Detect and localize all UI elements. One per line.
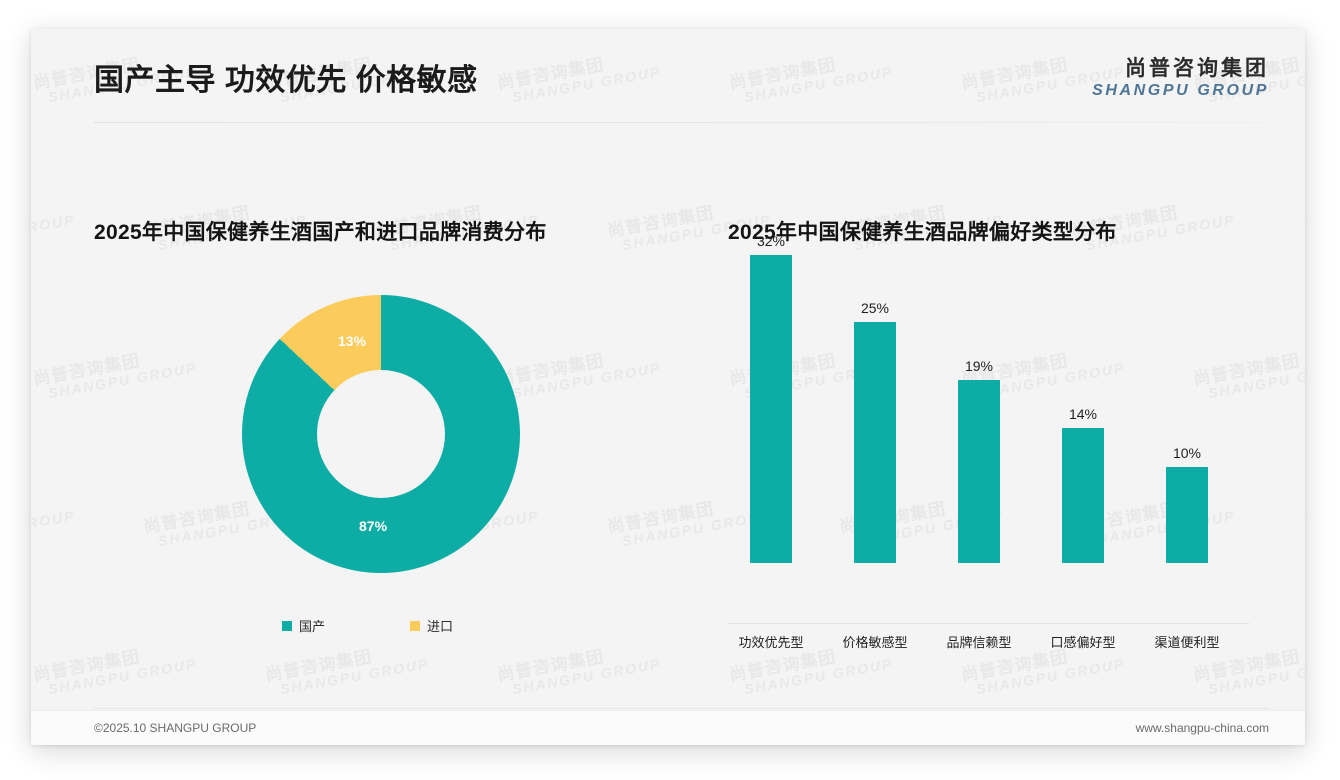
legend-label-domestic: 国产 xyxy=(299,616,325,635)
donut-slice-label-domestic: 87% xyxy=(359,518,387,534)
bar-column[interactable]: 14% xyxy=(1048,276,1118,563)
category-label: 口感偏好型 xyxy=(1031,632,1135,651)
legend-swatch-domestic xyxy=(282,621,292,631)
slide: 尚普咨询集团SHANGPU GROUP尚普咨询集团SHANGPU GROUP尚普… xyxy=(31,29,1305,745)
watermark-text: 尚普咨询集团SHANGPU GROUP xyxy=(31,337,199,404)
bar-chart: 32% 25% 19% 14% 10% 功效优先型 价格 xyxy=(728,276,1270,563)
donut-chart: 13% 87% xyxy=(242,295,520,573)
legend-item-import[interactable]: 进口 xyxy=(410,616,453,635)
watermark-text: 尚普咨询集团SHANGPU GROUP xyxy=(31,485,77,552)
company-logo: 尚普咨询集团 SHANGPU GROUP xyxy=(1092,58,1269,99)
bar-chart-axis-line xyxy=(728,623,1249,624)
bar-value-label: 14% xyxy=(1048,406,1118,422)
legend-label-import: 进口 xyxy=(427,616,453,635)
bar-rect xyxy=(854,322,896,563)
watermark-text: 尚普咨询集团SHANGPU GROUP xyxy=(1301,189,1305,256)
bar-chart-title: 2025年中国保健养生酒品牌偏好类型分布 xyxy=(728,216,1270,246)
bar-rect xyxy=(750,255,792,563)
donut-slice-label-import: 13% xyxy=(338,333,366,349)
logo-english-text: SHANGPU GROUP xyxy=(1092,83,1269,99)
watermark-text: 尚普咨询集团SHANGPU GROUP xyxy=(495,633,663,700)
bar-value-label: 10% xyxy=(1152,445,1222,461)
footer-copyright: ©2025.10 SHANGPU GROUP xyxy=(94,721,256,735)
header-divider xyxy=(94,122,1270,123)
bar-value-label: 19% xyxy=(944,358,1014,374)
watermark-text: 尚普咨询集团SHANGPU GROUP xyxy=(31,189,77,256)
watermark-text: 尚普咨询集团SHANGPU GROUP xyxy=(495,337,663,404)
bar-rect xyxy=(1062,428,1104,563)
bar-chart-category-labels: 功效优先型 价格敏感型 品牌信赖型 口感偏好型 渠道便利型 xyxy=(728,632,1270,656)
bar-rect xyxy=(1166,467,1208,563)
bar-rect xyxy=(958,380,1000,563)
bar-column[interactable]: 10% xyxy=(1152,276,1222,563)
category-label: 功效优先型 xyxy=(719,632,823,651)
page-title: 国产主导 功效优先 价格敏感 xyxy=(94,55,478,99)
watermark-text: 尚普咨询集团SHANGPU GROUP xyxy=(31,633,199,700)
slide-header: 国产主导 功效优先 价格敏感 尚普咨询集团 SHANGPU GROUP xyxy=(31,29,1305,122)
watermark-text: 尚普咨询集团SHANGPU GROUP xyxy=(1301,485,1305,552)
bar-column[interactable]: 32% xyxy=(736,276,806,563)
bar-value-label: 25% xyxy=(840,300,910,316)
logo-chinese-text: 尚普咨询集团 xyxy=(1092,58,1269,79)
footnote-divider xyxy=(94,708,1270,709)
bar-column[interactable]: 19% xyxy=(944,276,1014,563)
category-label: 价格敏感型 xyxy=(823,632,927,651)
bar-value-label: 32% xyxy=(736,233,806,249)
bar-chart-panel: 2025年中国保健养生酒品牌偏好类型分布 32% 25% 19% 14% 10% xyxy=(728,216,1270,246)
watermark-text: 尚普咨询集团SHANGPU GROUP xyxy=(263,633,431,700)
slide-footer: ©2025.10 SHANGPU GROUP www.shangpu-china… xyxy=(31,710,1305,745)
donut-chart-title: 2025年中国保健养生酒国产和进口品牌消费分布 xyxy=(94,216,694,246)
donut-hole xyxy=(317,370,445,498)
legend-swatch-import xyxy=(410,621,420,631)
donut-legend: 国产 进口 xyxy=(282,616,542,636)
category-label: 渠道便利型 xyxy=(1135,632,1239,651)
donut-chart-panel: 2025年中国保健养生酒国产和进口品牌消费分布 13% 87% 国产 进口 xyxy=(94,216,694,246)
bar-column[interactable]: 25% xyxy=(840,276,910,563)
category-label: 品牌信赖型 xyxy=(927,632,1031,651)
footer-website[interactable]: www.shangpu-china.com xyxy=(1136,721,1269,735)
legend-item-domestic[interactable]: 国产 xyxy=(282,616,325,635)
